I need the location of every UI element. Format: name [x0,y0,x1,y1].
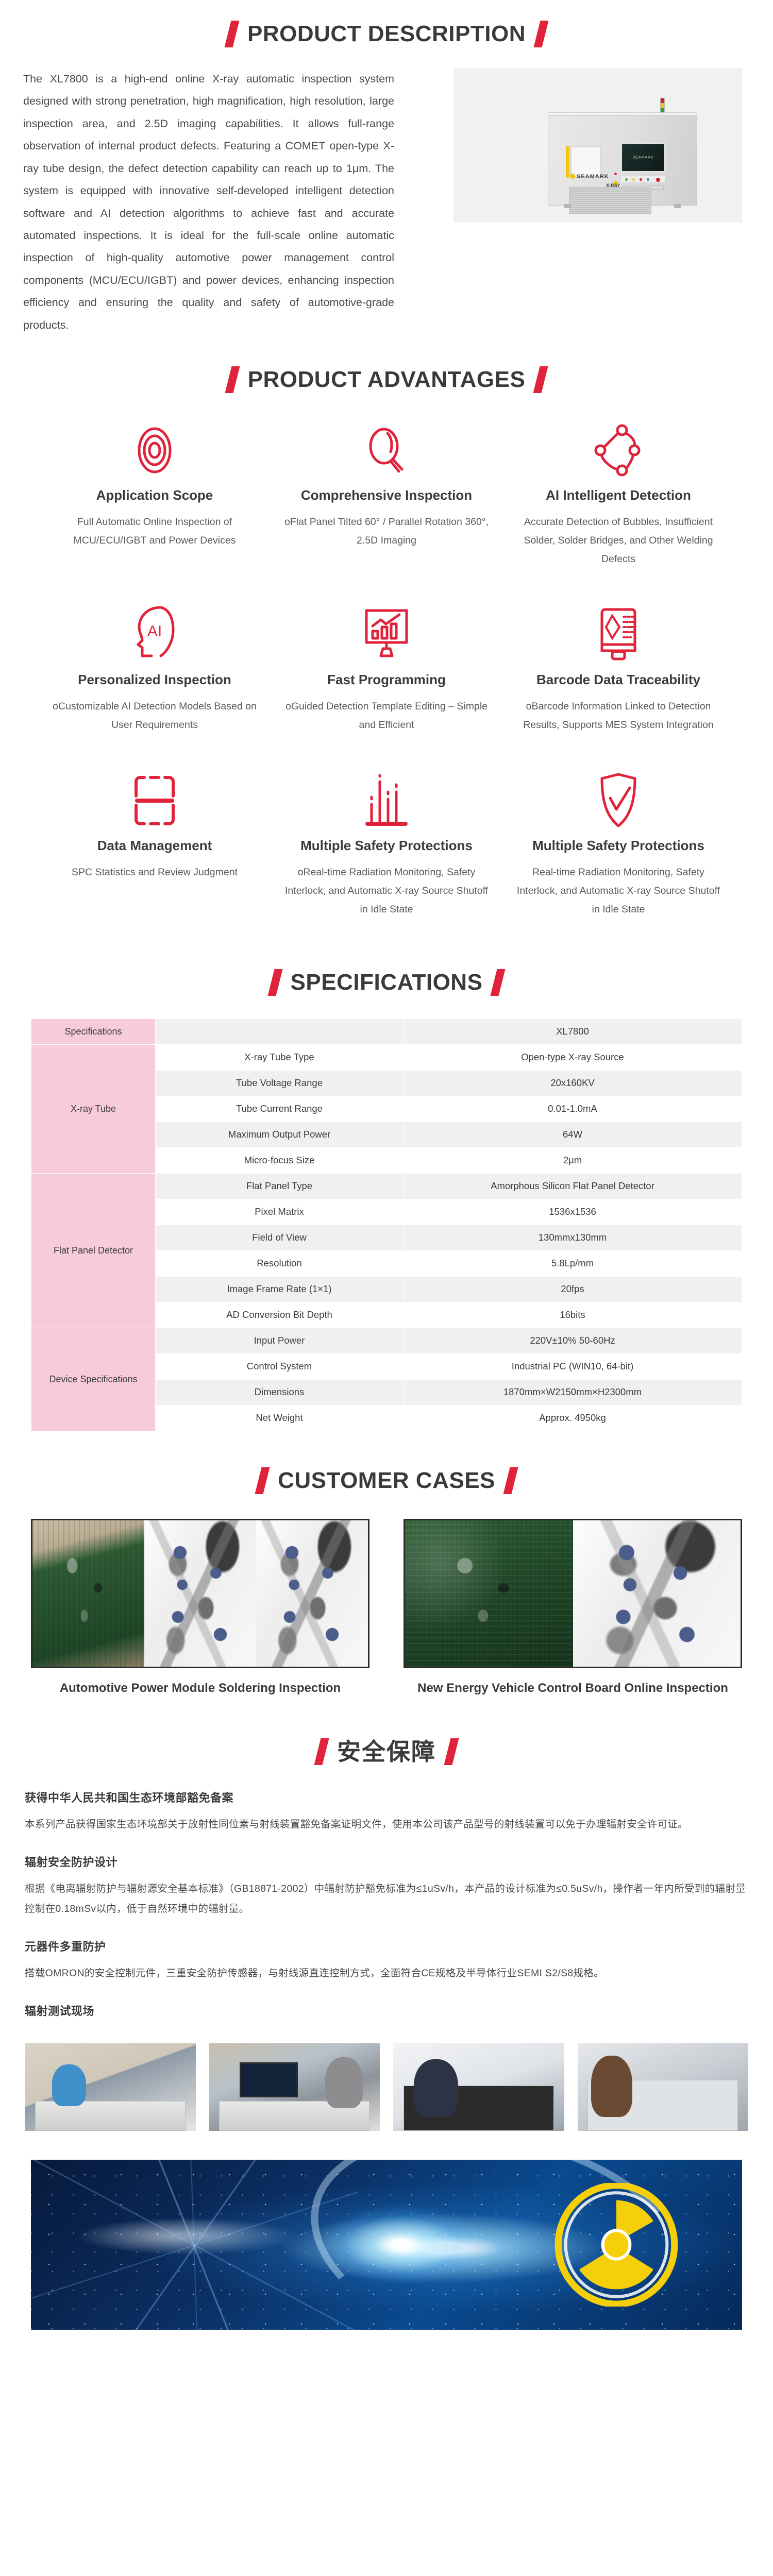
advantage-card: Barcode Data Traceability oBarcode Infor… [502,602,734,748]
advantage-desc: SPC Statistics and Review Judgment [50,863,259,882]
spec-value: 20fps [404,1277,742,1302]
monitor-chart-icon [282,602,491,667]
xray-image [144,1520,256,1667]
spec-value: 0.01-1.0mA [404,1096,742,1122]
product-page: PRODUCT DESCRIPTION The XL7800 is a high… [0,0,773,2350]
slash-left-icon [267,969,282,996]
table-row: Device Specifications Input Power 220V±1… [31,1328,742,1353]
spec-value: Amorphous Silicon Flat Panel Detector [404,1174,742,1199]
machine-display: SEAMARK [620,143,666,173]
section-title: CUSTOMER CASES [278,1469,495,1492]
spec-label: Net Weight [156,1405,403,1431]
table-row: Flat Panel Detector Flat Panel Type Amor… [31,1174,742,1199]
pcb-photo [32,1520,144,1667]
section-title: SPECIFICATIONS [291,971,483,994]
barcode-scanner-icon [514,602,723,667]
product-description-heading: PRODUCT DESCRIPTION [0,21,773,47]
slash-right-icon [534,21,549,47]
spec-label: Pixel Matrix [156,1199,403,1225]
spec-label: Flat Panel Type [156,1174,403,1199]
indicator-green-icon [625,178,628,181]
slash-right-icon [491,969,506,996]
customer-cases-heading: CUSTOMER CASES [0,1467,773,1494]
ai-head-icon: AI [50,602,259,667]
slash-left-icon [314,1738,329,1765]
slash-left-icon [255,1467,270,1494]
spec-value: Approx. 4950kg [404,1405,742,1431]
spec-value: 1870mm×W2150mm×H2300mm [404,1380,742,1405]
gear-icon [570,174,575,179]
table-header-row: Specifications XL7800 [31,1019,742,1044]
case-caption: Automotive Power Module Soldering Inspec… [31,1680,369,1697]
spec-value: Industrial PC (WIN10, 64-bit) [404,1354,742,1379]
spec-label: Image Frame Rate (1×1) [156,1277,403,1302]
case-item: Automotive Power Module Soldering Inspec… [31,1519,369,1697]
machine-foot [564,204,571,208]
monitor-silhouette [240,2062,298,2097]
spec-value: Open-type X-ray Source [404,1045,742,1070]
xray-machine-illustration: SEAMARK SEAMARK X-RAY [539,95,714,211]
spec-label: Input Power [156,1328,403,1353]
spec-header-value: XL7800 [404,1019,742,1044]
advantage-card: AI Personalized Inspection oCustomizable… [39,602,271,748]
person-silhouette [52,2064,86,2107]
spec-value: 1536x1536 [404,1199,742,1225]
node-network-icon [514,418,723,483]
slash-right-icon [533,366,548,393]
spec-label: Tube Current Range [156,1096,403,1122]
spec-label: Maximum Output Power [156,1122,403,1147]
table-row: X-ray Tube X-ray Tube Type Open-type X-r… [31,1045,742,1070]
advantage-title: Comprehensive Inspection [282,487,491,504]
advantage-desc: oBarcode Information Linked to Detection… [514,697,723,734]
light-flare [316,2204,486,2286]
viewing-window [570,146,602,178]
product-description-block: The XL7800 is a high-end online X-ray au… [0,47,773,336]
slash-right-icon [444,1738,459,1765]
spec-group-label: Device Specifications [31,1328,155,1431]
xray-image [573,1520,741,1667]
safety-block-title: 获得中华人民共和国生态环境部豁免备案 [25,1789,748,1805]
advantage-title: Fast Programming [282,671,491,689]
advantage-title: Multiple Safety Protections [282,837,491,855]
safety-block-text: 搭载OMRON的安全控制元件，三重安全防护传感器，与射线源直连控制方式，全面符合… [25,1963,748,1984]
safety-section: 安全保障 获得中华人民共和国生态环境部豁免备案 本系列产品获得国家生态环境部关于… [0,1697,773,2131]
advantage-card: Multiple Safety Protections oReal-time R… [271,768,502,932]
advantage-desc: Accurate Detection of Bubbles, Insuffici… [514,513,723,568]
spec-value: 20x160KV [404,1071,742,1096]
target-rings-icon [50,418,259,483]
pcb-photo [405,1520,573,1667]
advantage-desc: oGuided Detection Template Editing – Sim… [282,697,491,734]
site-photo-operator-at-monitor [209,2043,380,2131]
spec-value: 2μm [404,1148,742,1173]
machine-brand-label: SEAMARK [570,174,609,180]
section-title: PRODUCT ADVANTAGES [248,368,526,391]
machine-body: SEAMARK SEAMARK X-RAY [548,115,697,206]
advantage-title: Data Management [50,837,259,855]
advantage-card: Data Management SPC Statistics and Revie… [39,768,271,932]
advantage-card: AI Intelligent Detection Accurate Detect… [502,418,734,582]
spec-label: Control System [156,1354,403,1379]
specifications-heading: SPECIFICATIONS [0,969,773,996]
spec-group-label: X-ray Tube [31,1045,155,1173]
advantage-desc: Real-time Radiation Monitoring, Safety I… [514,863,723,919]
case-item: New Energy Vehicle Control Board Online … [404,1519,742,1697]
spec-label: X-ray Tube Type [156,1045,403,1070]
radiation-test-site-gallery [0,2028,773,2131]
specifications-table: Specifications XL7800 X-ray Tube X-ray T… [31,1019,742,1431]
signal-bars-icon [282,768,491,833]
person-silhouette [325,2057,363,2108]
spec-header-blank [156,1019,403,1044]
radiation-test-site-title: 辐射测试现场 [25,2002,748,2019]
advantage-title: AI Intelligent Detection [514,487,723,504]
spec-label: Dimensions [156,1380,403,1405]
top-spacer [0,0,773,21]
advantage-title: Personalized Inspection [50,671,259,689]
network-mesh [31,2160,358,2330]
person-silhouette [591,2056,632,2117]
estop-button-icon [613,172,618,176]
advantage-desc: oCustomizable AI Detection Models Based … [50,697,259,734]
spec-label: AD Conversion Bit Depth [156,1302,403,1328]
safety-block-title: 辐射安全防护设计 [25,1853,748,1870]
advantage-title: Multiple Safety Protections [514,837,723,855]
specifications-section: SPECIFICATIONS Specifications XL7800 X-r… [0,937,773,1431]
advantages-grid: Application Scope Full Automatic Online … [0,393,773,932]
indicator-yellow-icon [632,178,635,181]
radiation-banner [31,2160,742,2330]
safety-heading: 安全保障 [0,1738,773,1765]
slash-right-icon [503,1467,518,1494]
status-light-tower-icon [660,98,665,113]
door-handle-icon [566,146,569,178]
spec-group-label: Flat Panel Detector [31,1174,155,1328]
spec-label: Micro-focus Size [156,1148,403,1173]
indicator-red-icon [640,178,642,181]
advantage-card: Comprehensive Inspection oFlat Panel Til… [271,418,502,582]
case-image-nev-control-board [404,1519,742,1668]
spec-header-label: Specifications [31,1019,155,1044]
advantage-card: Fast Programming oGuided Detection Templ… [271,602,502,748]
advantage-desc: Full Automatic Online Inspection of MCU/… [50,513,259,550]
person-silhouette [414,2059,458,2117]
radiation-hazard-icon [554,2183,678,2307]
display-logo: SEAMARK [632,156,653,160]
spec-value: 220V±10% 50-60Hz [404,1328,742,1353]
case-caption: New Energy Vehicle Control Board Online … [404,1680,742,1697]
advantage-title: Barcode Data Traceability [514,671,723,689]
advantage-card: Application Scope Full Automatic Online … [39,418,271,582]
product-advantages-heading: PRODUCT ADVANTAGES [0,366,773,393]
safety-block-text: 本系列产品获得国家生态环境部关于放射性同位素与射线装置豁免备案证明文件，使用本公… [25,1815,748,1835]
slash-left-icon [225,21,240,47]
advantage-card: Multiple Safety Protections Real-time Ra… [502,768,734,932]
cases-grid: Automotive Power Module Soldering Inspec… [0,1494,773,1697]
customer-cases-section: CUSTOMER CASES Automotive Power Module S… [0,1431,773,1697]
indicator-blue-icon [647,178,649,181]
control-panel [620,176,666,183]
spec-value: 130mmx130mm [404,1225,742,1250]
shield-check-icon [514,768,723,833]
case-image-automotive-power-module [31,1519,369,1668]
advantage-desc: oReal-time Radiation Monitoring, Safety … [282,863,491,919]
spec-value: 5.8Lp/mm [404,1251,742,1276]
spec-label: Resolution [156,1251,403,1276]
spec-value: 64W [404,1122,742,1147]
xray-image [256,1520,368,1667]
advantage-title: Application Scope [50,487,259,504]
spec-label: Tube Voltage Range [156,1071,403,1096]
product-description-text: The XL7800 is a high-end online X-ray au… [23,68,394,336]
safety-block-text: 根据《电离辐射防护与辐射源安全基本标准》（GB18871-2002）中辐射防护豁… [25,1879,748,1919]
safety-body: 获得中华人民共和国生态环境部豁免备案 本系列产品获得国家生态环境部关于放射性同位… [0,1765,773,2019]
page-title: PRODUCT DESCRIPTION [247,23,526,45]
magnifier-icon [282,418,491,483]
machine-foot [674,204,681,208]
svg-text:AI: AI [147,623,162,640]
data-frame-icon [50,768,259,833]
site-photo-engineer-reviewing-display [393,2043,564,2131]
product-photo: SEAMARK SEAMARK X-RAY [453,68,742,223]
machine-silhouette [35,2101,186,2131]
section-title: 安全保障 [337,1740,436,1764]
bottom-spacer [0,2330,773,2350]
site-photo-technician-loading-sample [25,2043,196,2131]
spec-label: Field of View [156,1225,403,1250]
safety-block-title: 元器件多重防护 [25,1938,748,1954]
brand-text: SEAMARK [577,174,609,180]
site-photo-inspector-at-machine [578,2043,749,2131]
product-advantages-section: PRODUCT ADVANTAGES Application Scope Ful… [0,336,773,937]
advantage-desc: oFlat Panel Tilted 60° / Parallel Rotati… [282,513,491,550]
ventilation-grille [569,187,651,214]
spec-value: 16bits [404,1302,742,1328]
emergency-stop-icon [656,178,660,182]
slash-left-icon [225,366,240,393]
